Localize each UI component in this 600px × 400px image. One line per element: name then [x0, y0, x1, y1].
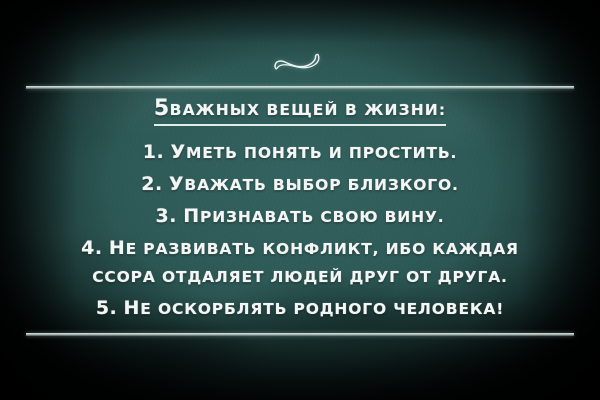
poster-content: 5ВАЖНЫХ ВЕЩЕЙ В ЖИЗНИ: 1. УМЕТЬ ПОНЯТЬ И…: [0, 0, 600, 400]
flourish-ornament-icon: [0, 48, 600, 76]
list-item: 4. НЕ РАЗВИВАТЬ КОНФЛИКТ, ИБО КАЖДАЯ: [0, 239, 600, 258]
divider-rule-top: [26, 86, 574, 89]
quote-poster: 5ВАЖНЫХ ВЕЩЕЙ В ЖИЗНИ: 1. УМЕТЬ ПОНЯТЬ И…: [0, 0, 600, 400]
list-item: 1. УМЕТЬ ПОНЯТЬ И ПРОСТИТЬ.: [0, 143, 600, 162]
list-item-initial: У: [169, 173, 185, 195]
heading-number: 5: [154, 96, 170, 121]
list-item-text: Е ОСКОРБЛЯТЬ РОДНОГО ЧЕЛОВЕКА!: [140, 300, 504, 318]
list-item-continuation-text: ССОРА ОТДАЛЯЕТ ЛЮДЕЙ ДРУГ ОТ ДРУГА.: [92, 268, 508, 286]
list-item: 2. УВАЖАТЬ ВЫБОР БЛИЗКОГО.: [0, 175, 600, 194]
list-item-text: ВАЖАТЬ ВЫБОР БЛИЗКОГО.: [184, 176, 458, 194]
list-item-initial: Н: [109, 237, 126, 259]
list-item-initial: П: [183, 205, 200, 227]
list-item-continuation: ССОРА ОТДАЛЯЕТ ЛЮДЕЙ ДРУГ ОТ ДРУГА.: [0, 270, 600, 286]
list-item: 5. НЕ ОСКОРБЛЯТЬ РОДНОГО ЧЕЛОВЕКА!: [0, 299, 600, 318]
text-block: 5ВАЖНЫХ ВЕЩЕЙ В ЖИЗНИ: 1. УМЕТЬ ПОНЯТЬ И…: [0, 98, 600, 318]
poster-heading: 5ВАЖНЫХ ВЕЩЕЙ В ЖИЗНИ:: [154, 98, 446, 126]
list-item-number: 2.: [141, 173, 162, 195]
list-item-initial: Н: [124, 297, 141, 319]
list-item-number: 1.: [143, 141, 164, 163]
list-item-number: 4.: [81, 237, 102, 259]
heading-text: ВАЖНЫХ ВЕЩЕЙ В ЖИЗНИ:: [170, 101, 446, 119]
list-item: 3. ПРИЗНАВАТЬ СВОЮ ВИНУ.: [0, 207, 600, 226]
list-item-initial: У: [170, 141, 186, 163]
list-item-text: Е РАЗВИВАТЬ КОНФЛИКТ, ИБО КАЖДАЯ: [126, 240, 519, 258]
list-item-number: 5.: [96, 297, 117, 319]
divider-rule-bottom: [26, 333, 574, 336]
list-item-text: РИЗНАВАТЬ СВОЮ ВИНУ.: [200, 208, 444, 226]
list-item-text: МЕТЬ ПОНЯТЬ И ПРОСТИТЬ.: [186, 144, 457, 162]
list-item-number: 3.: [156, 205, 177, 227]
